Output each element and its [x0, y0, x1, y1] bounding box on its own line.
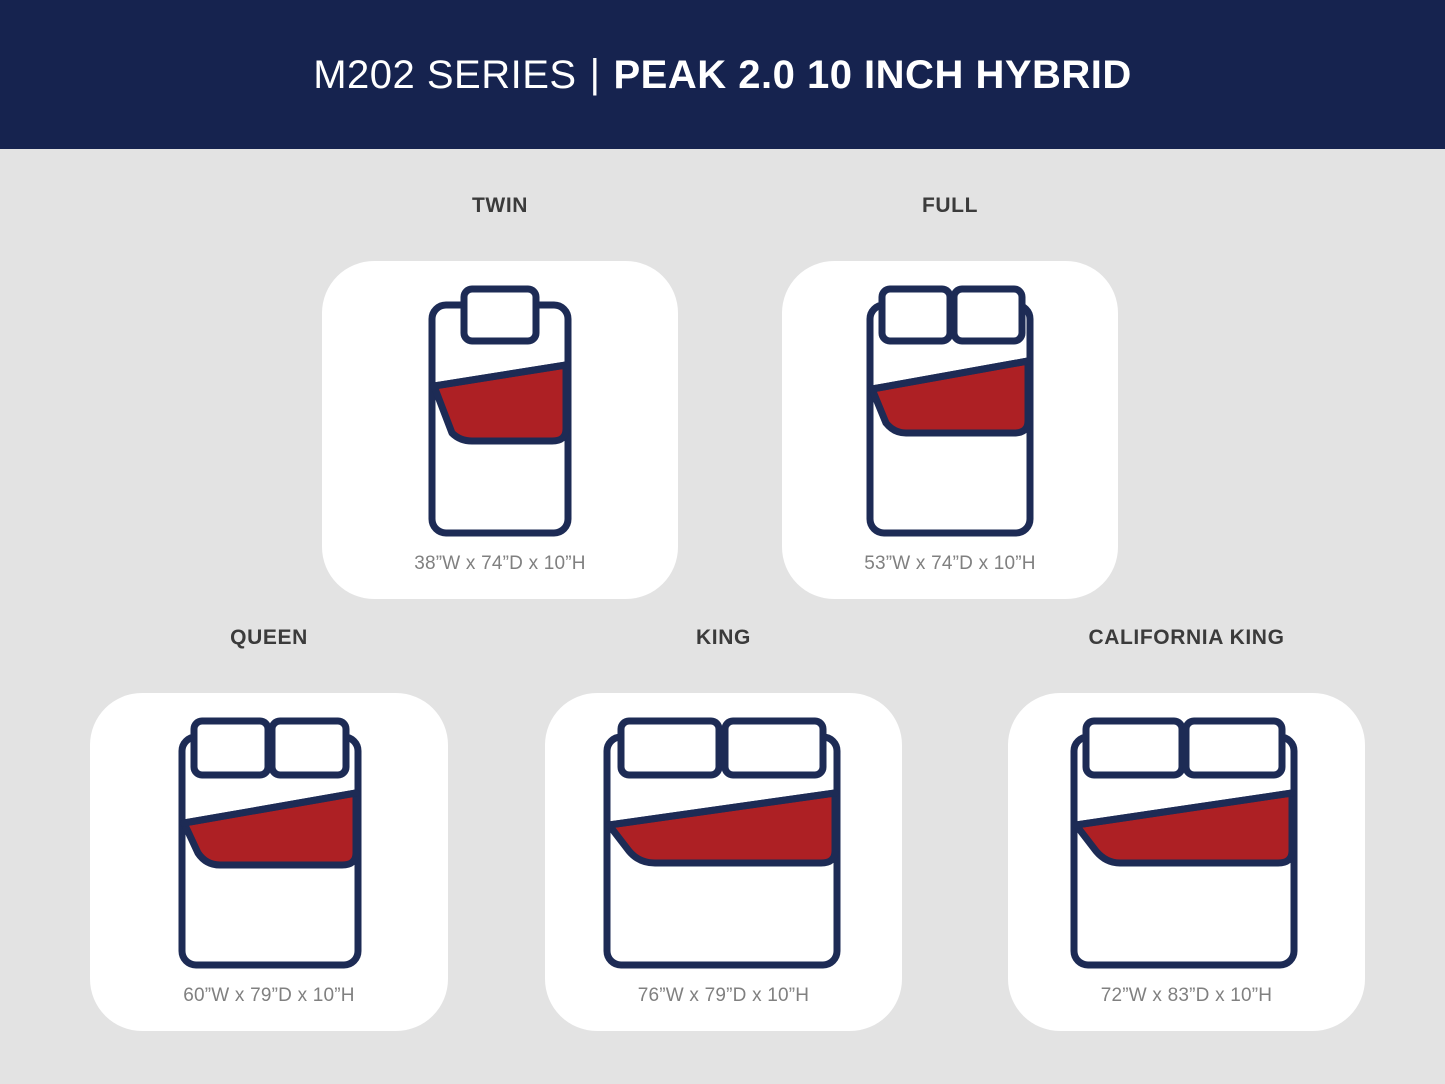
size-label-full: FULL — [782, 195, 1118, 216]
size-dimensions-queen: 60”W x 79”D x 10”H — [90, 986, 448, 1005]
size-label-king: KING — [545, 627, 902, 648]
size-label-california-king: CALIFORNIA KING — [1008, 627, 1365, 648]
size-dimensions-california-king: 72”W x 83”D x 10”H — [1008, 986, 1365, 1005]
size-cell-full: FULL 53”W x 74”D x 10”H — [782, 195, 1118, 599]
page-title: M202 SERIES | PEAK 2.0 10 INCH HYBRID — [313, 55, 1132, 95]
size-card-queen[interactable]: 60”W x 79”D x 10”H — [90, 693, 448, 1031]
size-label-queen: QUEEN — [90, 627, 448, 648]
bed-king-icon — [545, 693, 902, 983]
size-card-california-king[interactable]: 72”W x 83”D x 10”H — [1008, 693, 1365, 1031]
size-card-twin[interactable]: 38”W x 74”D x 10”H — [322, 261, 678, 599]
size-dimensions-full: 53”W x 74”D x 10”H — [782, 554, 1118, 573]
size-dimensions-king: 76”W x 79”D x 10”H — [545, 986, 902, 1005]
page-title-separator: | — [590, 54, 601, 94]
bed-twin-icon — [322, 261, 678, 551]
bed-queen-icon — [90, 693, 448, 983]
page-title-series: M202 SERIES — [313, 55, 576, 95]
size-card-full[interactable]: 53”W x 74”D x 10”H — [782, 261, 1118, 599]
size-cell-california-king: CALIFORNIA KING 72”W x 83”D x 10”H — [1008, 627, 1365, 1031]
size-card-king[interactable]: 76”W x 79”D x 10”H — [545, 693, 902, 1031]
page-title-model: PEAK 2.0 10 INCH HYBRID — [613, 55, 1131, 95]
size-dimensions-twin: 38”W x 74”D x 10”H — [322, 554, 678, 573]
size-label-twin: TWIN — [322, 195, 678, 216]
size-cell-queen: QUEEN 60”W x 79”D x 10”H — [90, 627, 448, 1031]
bed-full-icon — [782, 261, 1118, 551]
bed-california-king-icon — [1008, 693, 1365, 983]
size-cell-king: KING 76”W x 79”D x 10”H — [545, 627, 902, 1031]
size-cell-twin: TWIN 38”W x 74”D x 10”H — [322, 195, 678, 599]
page-header: M202 SERIES | PEAK 2.0 10 INCH HYBRID — [0, 0, 1445, 149]
bed-size-grid: TWIN 38”W x 74”D x 10”H FULL — [0, 149, 1445, 1084]
